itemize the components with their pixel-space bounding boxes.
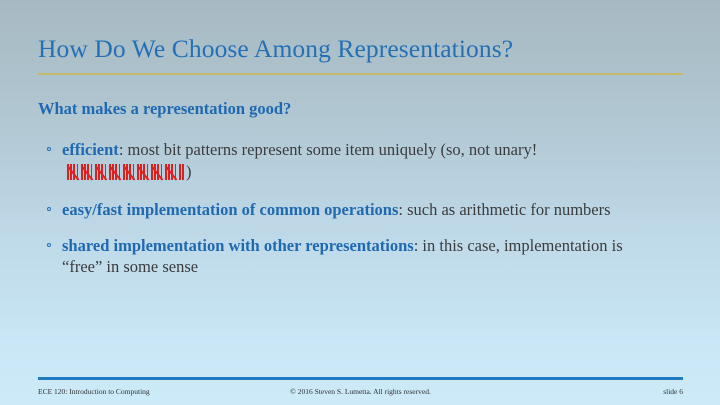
footer-divider	[38, 377, 683, 380]
section-heading: What makes a representation good?	[38, 99, 291, 119]
page-title: How Do We Choose Among Representations?	[38, 33, 686, 64]
list-item: easy/fast implementation of common opera…	[46, 199, 656, 221]
list-item-tail: )	[186, 162, 192, 181]
bullet-circle-icon	[47, 147, 51, 151]
footer-copyright: © 2016 Steven S. Lumetta. All rights res…	[38, 386, 683, 398]
title-divider	[38, 73, 683, 75]
tally-extra-strokes-icon	[179, 164, 183, 180]
list-item-body: : such as arithmetic for numbers	[398, 200, 610, 219]
list-item-lead: easy/fast implementation of common opera…	[62, 200, 398, 219]
list-item-lead: shared implementation with other represe…	[62, 236, 414, 255]
slide-canvas: How Do We Choose Among Representations? …	[0, 0, 720, 405]
list-item-text: easy/fast implementation of common opera…	[62, 199, 656, 221]
tally-group-icon	[165, 164, 178, 180]
tally-group-icon	[151, 164, 164, 180]
tally-group-icon	[137, 164, 150, 180]
list-item-text: efficient: most bit patterns represent s…	[62, 139, 656, 185]
list-item-body: : most bit patterns represent some item …	[119, 140, 537, 159]
footer-slide-number: slide 6	[663, 386, 683, 398]
tally-group-icon	[123, 164, 136, 180]
footer: ECE 120: Introduction to Computing © 201…	[38, 386, 683, 398]
bullet-list: efficient: most bit patterns represent s…	[46, 139, 656, 278]
list-item: shared implementation with other represe…	[46, 235, 656, 278]
list-item-text: shared implementation with other represe…	[62, 235, 656, 278]
tally-group-icon	[67, 164, 80, 180]
list-item-lead: efficient	[62, 140, 119, 159]
tally-group-icon	[109, 164, 122, 180]
bullet-circle-icon	[47, 207, 51, 211]
bullet-circle-icon	[47, 243, 51, 247]
tally-group-icon	[95, 164, 108, 180]
tally-group-icon	[81, 164, 94, 180]
list-item: efficient: most bit patterns represent s…	[46, 139, 656, 185]
tally-marks-graphic	[67, 164, 183, 186]
